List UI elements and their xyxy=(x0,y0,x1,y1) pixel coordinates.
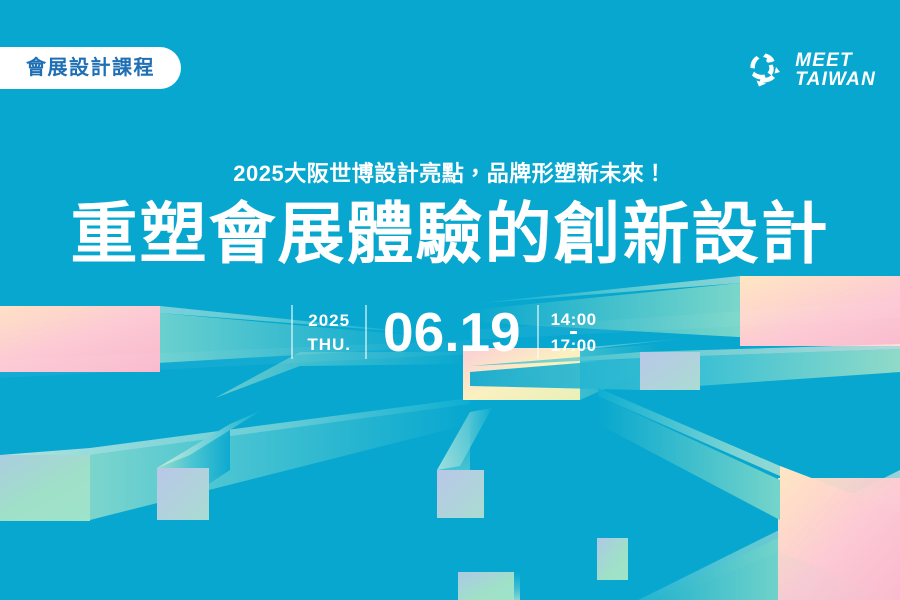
time-end: 17:00 xyxy=(551,337,597,354)
event-banner: 會展設計課程 MEET TAIWAN xyxy=(0,0,900,600)
logo-line-taiwan: TAIWAN xyxy=(795,70,876,89)
event-time-range: 14:00 17:00 xyxy=(539,303,609,361)
date-weekday: THU. xyxy=(307,336,351,353)
meet-taiwan-logo-mark xyxy=(746,50,786,90)
time-range-dash xyxy=(570,331,577,334)
date-divider-middle xyxy=(365,305,367,359)
banner-topbar: 會展設計課程 MEET TAIWAN xyxy=(0,0,900,140)
event-subtitle: 2025大阪世博設計亮點，品牌形塑新未來！ xyxy=(0,160,900,188)
time-start: 14:00 xyxy=(551,311,597,328)
date-day-month: 06.19 xyxy=(367,303,537,361)
date-divider-right xyxy=(537,305,539,359)
meet-taiwan-logo: MEET TAIWAN xyxy=(746,48,876,92)
headline-block: 2025大阪世博設計亮點，品牌形塑新未來！ 重塑會展體驗的創新設計 xyxy=(0,160,900,271)
date-divider-left xyxy=(291,305,293,359)
meet-taiwan-logo-text: MEET TAIWAN xyxy=(795,51,876,90)
course-category-badge: 會展設計課程 xyxy=(0,47,181,89)
logo-line-meet: MEET xyxy=(795,51,876,70)
date-year: 2025 xyxy=(308,312,350,329)
event-date-strip: 2025 THU. 06.19 14:00 17:00 xyxy=(0,303,900,361)
event-title: 重塑會展體驗的創新設計 xyxy=(0,199,900,271)
date-year-weekday: 2025 THU. xyxy=(293,303,365,361)
course-category-label: 會展設計課程 xyxy=(26,58,155,78)
